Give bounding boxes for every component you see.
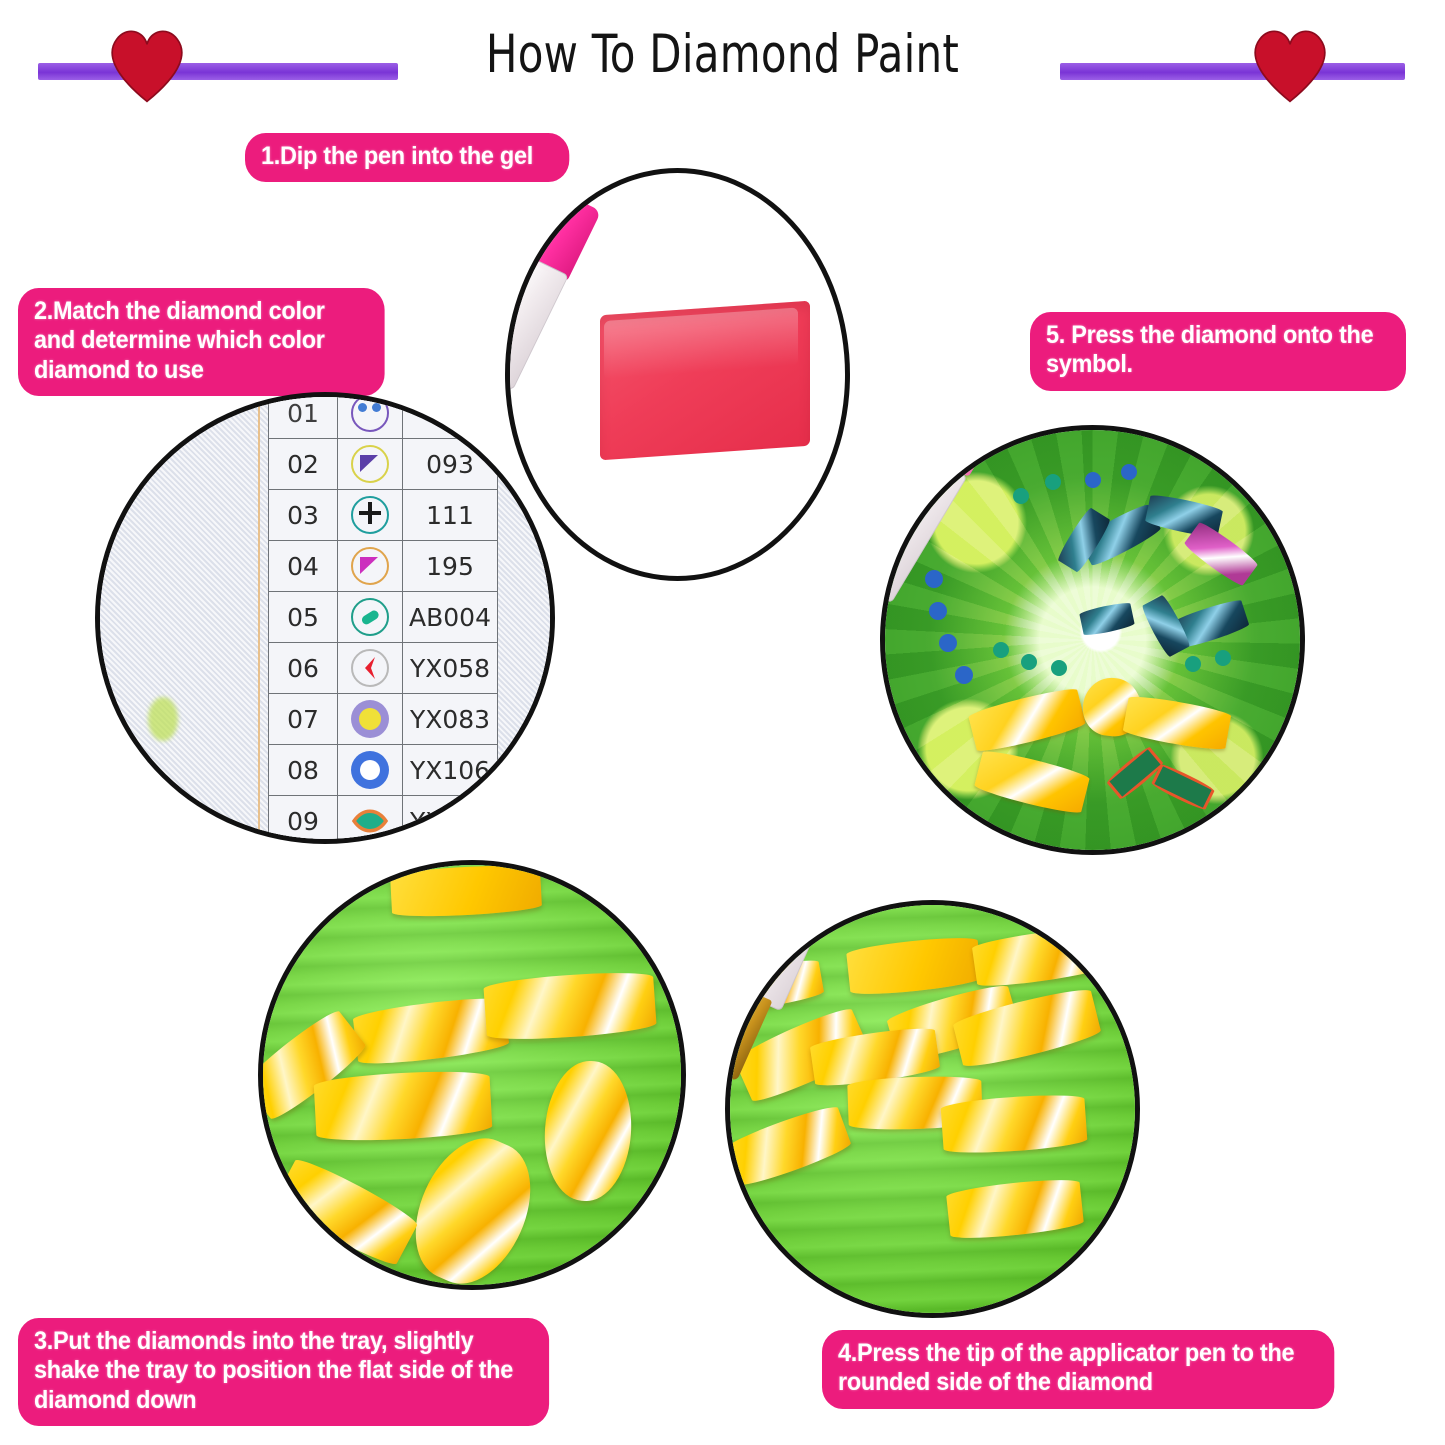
step-2-label: 2.Match the diamond color and determine … [18, 288, 385, 396]
step-4-label: 4.Press the tip of the applicator pen to… [822, 1330, 1334, 1409]
color-chart-row: 08YX106 [269, 745, 498, 796]
printed-dot [1185, 656, 1201, 672]
printed-dot [993, 642, 1009, 658]
chart-cell-code: YX083 [403, 694, 498, 745]
chart-cell-code: YX106 [403, 745, 498, 796]
chart-cell-symbol [338, 745, 403, 796]
printed-dot [1013, 488, 1029, 504]
printed-dot [1021, 654, 1037, 670]
printed-dot [1045, 474, 1061, 490]
chart-cell-number: 03 [269, 490, 338, 541]
symbol-leaf [351, 802, 389, 840]
chart-cell-number: 06 [269, 643, 338, 694]
diamond [313, 1068, 492, 1143]
chart-cell-number: 02 [269, 439, 338, 490]
step-2-photo: 0102802093031110419505AB00406YX05807YX08… [95, 392, 555, 844]
chart-cell-symbol [338, 592, 403, 643]
step-3-label: 3.Put the diamonds into the tray, slight… [18, 1318, 549, 1426]
printed-dot [1051, 660, 1067, 676]
symbol-double-dot-circle [351, 394, 389, 432]
chart-cell-symbol [338, 694, 403, 745]
symbol-cross [351, 496, 389, 534]
color-chart-row: 02093 [269, 439, 498, 490]
pen-body [505, 256, 569, 390]
printed-dot [929, 602, 947, 620]
color-chart-row: 04195 [269, 541, 498, 592]
symbol-triangle [351, 547, 389, 585]
chart-cell-code: YX125 [403, 796, 498, 845]
symbol-chevron-left [351, 649, 389, 687]
step-4-photo [725, 900, 1140, 1318]
chart-cell-symbol [338, 796, 403, 845]
chart-cell-number: 04 [269, 541, 338, 592]
chart-cell-code: 195 [403, 541, 498, 592]
chart-cell-number: 09 [269, 796, 338, 845]
chart-cell-symbol [338, 392, 403, 439]
chart-cell-number: 01 [269, 392, 338, 439]
step-5-photo [880, 425, 1305, 855]
printed-dot [1215, 650, 1231, 666]
chart-cell-number: 07 [269, 694, 338, 745]
color-chart-table: 0102802093031110419505AB00406YX05807YX08… [268, 392, 498, 844]
printed-dot [1121, 464, 1137, 480]
symbol-donut [351, 751, 389, 789]
color-chart-row: 07YX083 [269, 694, 498, 745]
step-5-label: 5. Press the diamond onto the symbol. [1030, 312, 1406, 391]
chart-cell-code: YX058 [403, 643, 498, 694]
step-1-label: 1.Dip the pen into the gel [245, 133, 569, 182]
printed-dot [939, 634, 957, 652]
printed-dot [955, 666, 973, 684]
color-chart-row: 05AB004 [269, 592, 498, 643]
page-title: How To Diamond Paint [87, 24, 1359, 85]
chart-cell-number: 05 [269, 592, 338, 643]
chart-cell-code: 028 [403, 392, 498, 439]
chart-cell-symbol [338, 643, 403, 694]
symbol-dot-in-ring [351, 700, 389, 738]
symbol-capsule [351, 598, 389, 636]
chart-cell-code: 093 [403, 439, 498, 490]
color-chart-row: 01028 [269, 392, 498, 439]
canvas-printed-symbol [152, 785, 180, 813]
chart-cell-number: 08 [269, 745, 338, 796]
canvas-guide-line [258, 397, 260, 839]
color-chart-row: 03111 [269, 490, 498, 541]
printed-dot [1085, 472, 1101, 488]
pen-tip [880, 581, 884, 655]
color-chart-row: 06YX058 [269, 643, 498, 694]
step-3-photo [258, 860, 686, 1290]
printed-dot [925, 570, 943, 588]
symbol-triangle [351, 445, 389, 483]
chart-cell-symbol [338, 490, 403, 541]
chart-cell-code: AB004 [403, 592, 498, 643]
color-chart-row: 09YX125 [269, 796, 498, 845]
page-header: How To Diamond Paint [0, 0, 1445, 110]
chart-cell-code: 111 [403, 490, 498, 541]
gel-pad [600, 301, 810, 461]
canvas-printed-symbol [148, 697, 178, 741]
step-1-photo [505, 168, 850, 581]
chart-cell-symbol [338, 439, 403, 490]
chart-cell-symbol [338, 541, 403, 592]
